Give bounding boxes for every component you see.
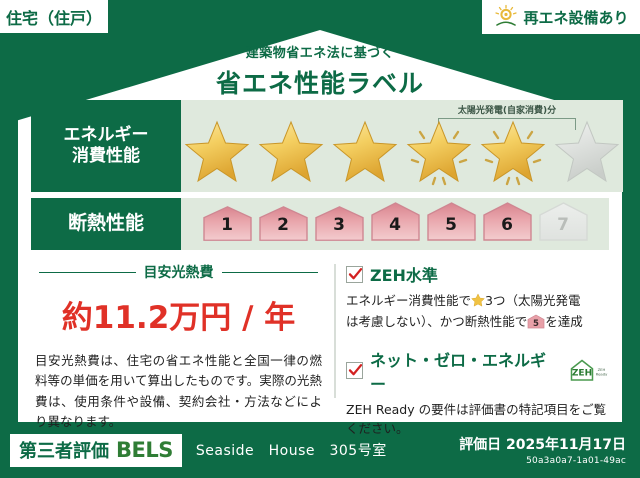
inline-house-badge-icon: 5 — [527, 317, 545, 332]
zeh-section: ZEH水準 エネルギー消費性能で3つ（太陽光発電は考慮しない）、かつ断熱性能で5… — [346, 262, 609, 412]
solar-generation-bracket-label: 太陽光発電(自家消費)分 — [434, 103, 580, 116]
insulation-grade-6-achieved: 6 — [481, 201, 534, 243]
vertical-divider — [334, 264, 336, 398]
zeh-standard-block: ZEH水準 エネルギー消費性能で3つ（太陽光発電は考慮しない）、かつ断熱性能で5… — [346, 262, 609, 335]
star-6-empty — [551, 118, 623, 188]
insulation-grade-number: 5 — [445, 217, 457, 243]
energy-performance-body: 太陽光発電(自家消費)分 — [181, 100, 623, 192]
third-party-evaluation-label: 第三者評価 — [19, 437, 109, 463]
zeh-ready-logo-icon: ZEH ZEH Ready — [567, 358, 609, 384]
bels-tag: 第三者評価 BELS — [10, 434, 182, 467]
energy-performance-label: 住宅（住戸） 再エネ設備あり 建築物省エネ法に基づく 省エネ性能ラベル — [0, 0, 640, 478]
star-1-filled — [181, 118, 253, 188]
insulation-grade-number: 7 — [557, 217, 569, 243]
svg-text:ZEH: ZEH — [572, 368, 592, 378]
insulation-grade-number: 2 — [277, 217, 289, 243]
star-5-filled — [477, 118, 549, 188]
insulation-grade-number: 4 — [389, 217, 401, 243]
energy-performance-label-line1: エネルギー — [64, 125, 149, 146]
net-zero-energy-description: ZEH Ready の要件は評価書の特記項目をご覧ください。 — [346, 400, 609, 439]
svg-text:ZEH: ZEH — [598, 368, 606, 372]
net-zero-energy-checkbox[interactable] — [346, 362, 363, 379]
insulation-grade-scale: 1 2 — [181, 198, 609, 250]
insulation-grade-1-achieved: 1 — [201, 205, 254, 243]
label-subtitle: 建築物省エネ法に基づく — [0, 42, 640, 61]
energy-performance-label-box: エネルギー 消費性能 — [31, 100, 181, 192]
net-zero-energy-title: ネット・ゼロ・エネルギー — [370, 347, 560, 395]
insulation-grade-number: 6 — [501, 217, 513, 243]
zeh-desc-part3: を達成 — [545, 314, 583, 329]
zeh-desc-part2: は考慮しない）、かつ断熱性能で — [346, 314, 527, 329]
zeh-standard-checkbox[interactable] — [346, 266, 363, 283]
content-panel: エネルギー 消費性能 太陽光発電(自家消費)分 — [31, 100, 609, 422]
insulation-performance-body: 1 2 — [181, 198, 609, 250]
zeh-standard-title: ZEH水準 — [370, 262, 438, 286]
insulation-performance-label-box: 断熱性能 — [31, 198, 181, 250]
utility-cost-note: 目安光熱費は、住宅の省エネ性能と全国一律の燃料等の単価を用いて算出したものです。… — [31, 351, 326, 432]
star-3-filled — [329, 118, 401, 188]
utility-cost-heading: 目安光熱費 — [31, 262, 326, 282]
building-type-tag-label: 住宅（住戸） — [6, 5, 102, 29]
bels-label: BELS — [116, 438, 173, 462]
heading-rule-left — [39, 272, 136, 273]
net-zero-energy-head: ネット・ゼロ・エネルギー ZEH ZEH Ready — [346, 347, 609, 395]
star-2-filled — [255, 118, 327, 188]
zeh-desc-part1: エネルギー消費性能で — [346, 293, 471, 308]
insulation-grade-4-achieved: 4 — [369, 201, 422, 243]
evaluation-info: 評価日 2025年11月17日 50a3a0a7-1a01-49ac — [459, 434, 626, 466]
insulation-grade-number: 1 — [221, 217, 233, 243]
insulation-grade-3-achieved: 3 — [313, 205, 366, 243]
svg-text:5: 5 — [533, 319, 539, 329]
utility-cost-heading-label: 目安光熱費 — [144, 262, 214, 282]
star-4-filled — [403, 118, 475, 188]
evaluation-id: 50a3a0a7-1a01-49ac — [459, 456, 626, 466]
utility-cost-section: 目安光熱費 約11.2万円 / 年 目安光熱費は、住宅の省エネ性能と全国一律の燃… — [31, 262, 334, 412]
insulation-grade-5-achieved: 5 — [425, 201, 478, 243]
insulation-grade-2-achieved: 2 — [257, 205, 310, 243]
net-zero-energy-block: ネット・ゼロ・エネルギー ZEH ZEH Ready ZEH Ready の要件… — [346, 347, 609, 439]
label-header-titles: 建築物省エネ法に基づく 省エネ性能ラベル — [0, 42, 640, 100]
energy-performance-label-line2: 消費性能 — [72, 146, 140, 167]
sun-icon — [493, 4, 519, 30]
utility-cost-value: 約11.2万円 / 年 — [31, 292, 326, 337]
zeh-standard-head: ZEH水準 — [346, 262, 609, 286]
heading-rule-right — [222, 272, 319, 273]
energy-performance-row: エネルギー 消費性能 太陽光発電(自家消費)分 — [31, 100, 609, 192]
page-title: 省エネ性能ラベル — [0, 64, 640, 100]
renewable-energy-tag: 再エネ設備あり — [482, 0, 640, 34]
zeh-standard-description: エネルギー消費性能で3つ（太陽光発電は考慮しない）、かつ断熱性能で5を達成 — [346, 291, 609, 335]
insulation-performance-row: 断熱性能 1 — [31, 198, 609, 250]
insulation-performance-label: 断熱性能 — [68, 212, 144, 236]
inline-star-icon — [471, 295, 485, 310]
insulation-grade-7-not-achieved: 7 — [537, 201, 590, 243]
insulation-grade-number: 3 — [333, 217, 345, 243]
property-name: Seaside House 305号室 — [196, 440, 387, 460]
renewable-energy-tag-label: 再エネ設備あり — [523, 7, 628, 28]
svg-text:Ready: Ready — [596, 372, 608, 376]
lower-area: 目安光熱費 約11.2万円 / 年 目安光熱費は、住宅の省エネ性能と全国一律の燃… — [31, 262, 609, 412]
building-type-tag: 住宅（住戸） — [0, 0, 108, 33]
zeh-desc-star-text: 3つ（太陽光発電 — [485, 293, 580, 308]
